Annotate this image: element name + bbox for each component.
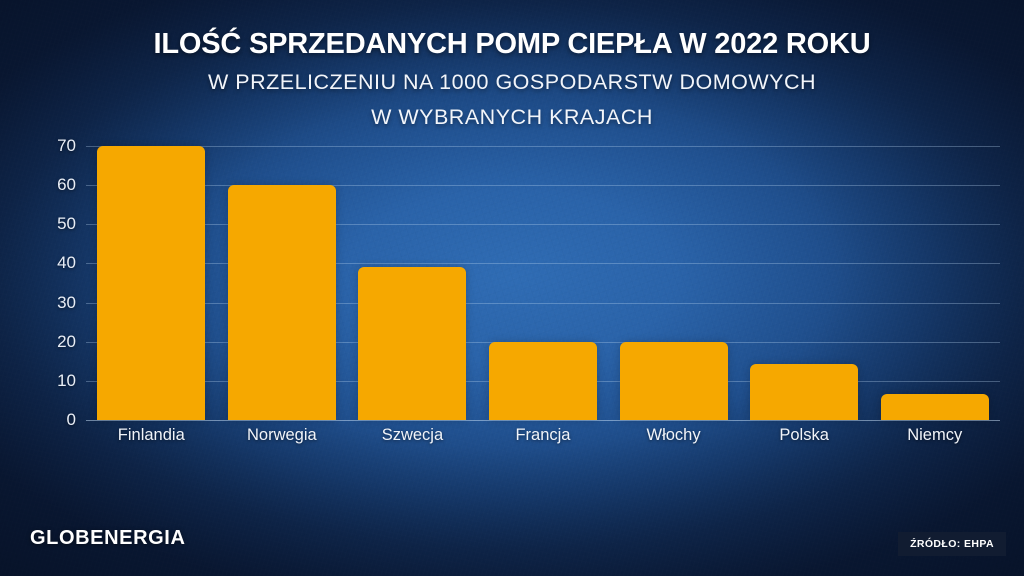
gridline [86,146,1000,147]
page-title: ILOŚĆ SPRZEDANYCH POMP CIEPŁA W 2022 ROK… [0,26,1024,62]
title-block: ILOŚĆ SPRZEDANYCH POMP CIEPŁA W 2022 ROK… [0,26,1024,132]
x-axis-label-szwecja: Szwecja [347,424,478,446]
x-axis-label-włochy: Włochy [608,424,739,446]
source-badge: ŹRÓDŁO: EHPA [898,532,1006,556]
chart-plot-area [86,146,1000,420]
gridline [86,224,1000,225]
y-axis-tick-label: 40 [2,254,76,271]
y-axis-labels: 010203040506070 [0,146,76,420]
bar-finlandia [97,146,205,420]
bar-włochy [620,342,728,420]
subtitle-line-2: W WYBRANYCH KRAJACH [0,103,1024,132]
x-axis-label-polska: Polska [739,424,870,446]
y-axis-tick-label: 0 [2,411,76,428]
y-axis-tick-label: 50 [2,215,76,232]
bar-polska [750,364,858,420]
bar-norwegia [228,185,336,420]
subtitle-line-1: W PRZELICZENIU NA 1000 GOSPODARSTW DOMOW… [0,68,1024,97]
x-axis-label-niemcy: Niemcy [869,424,1000,446]
y-axis-tick-label: 60 [2,176,76,193]
x-axis-label-norwegia: Norwegia [217,424,348,446]
infographic-canvas: ILOŚĆ SPRZEDANYCH POMP CIEPŁA W 2022 ROK… [0,0,1024,576]
y-axis-tick-label: 20 [2,333,76,350]
bar-niemcy [881,394,989,420]
x-axis-labels: FinlandiaNorwegiaSzwecjaFrancjaWłochyPol… [86,424,1000,454]
y-axis-tick-label: 70 [2,137,76,154]
brand-logo: GLOBENERGIA [30,527,186,550]
bar-szwecja [358,267,466,420]
x-axis-label-francja: Francja [478,424,609,446]
gridline [86,185,1000,186]
x-axis-label-finlandia: Finlandia [86,424,217,446]
bar-francja [489,342,597,420]
gridline [86,263,1000,264]
gridline [86,303,1000,304]
y-axis-tick-label: 10 [2,372,76,389]
y-axis-tick-label: 30 [2,294,76,311]
